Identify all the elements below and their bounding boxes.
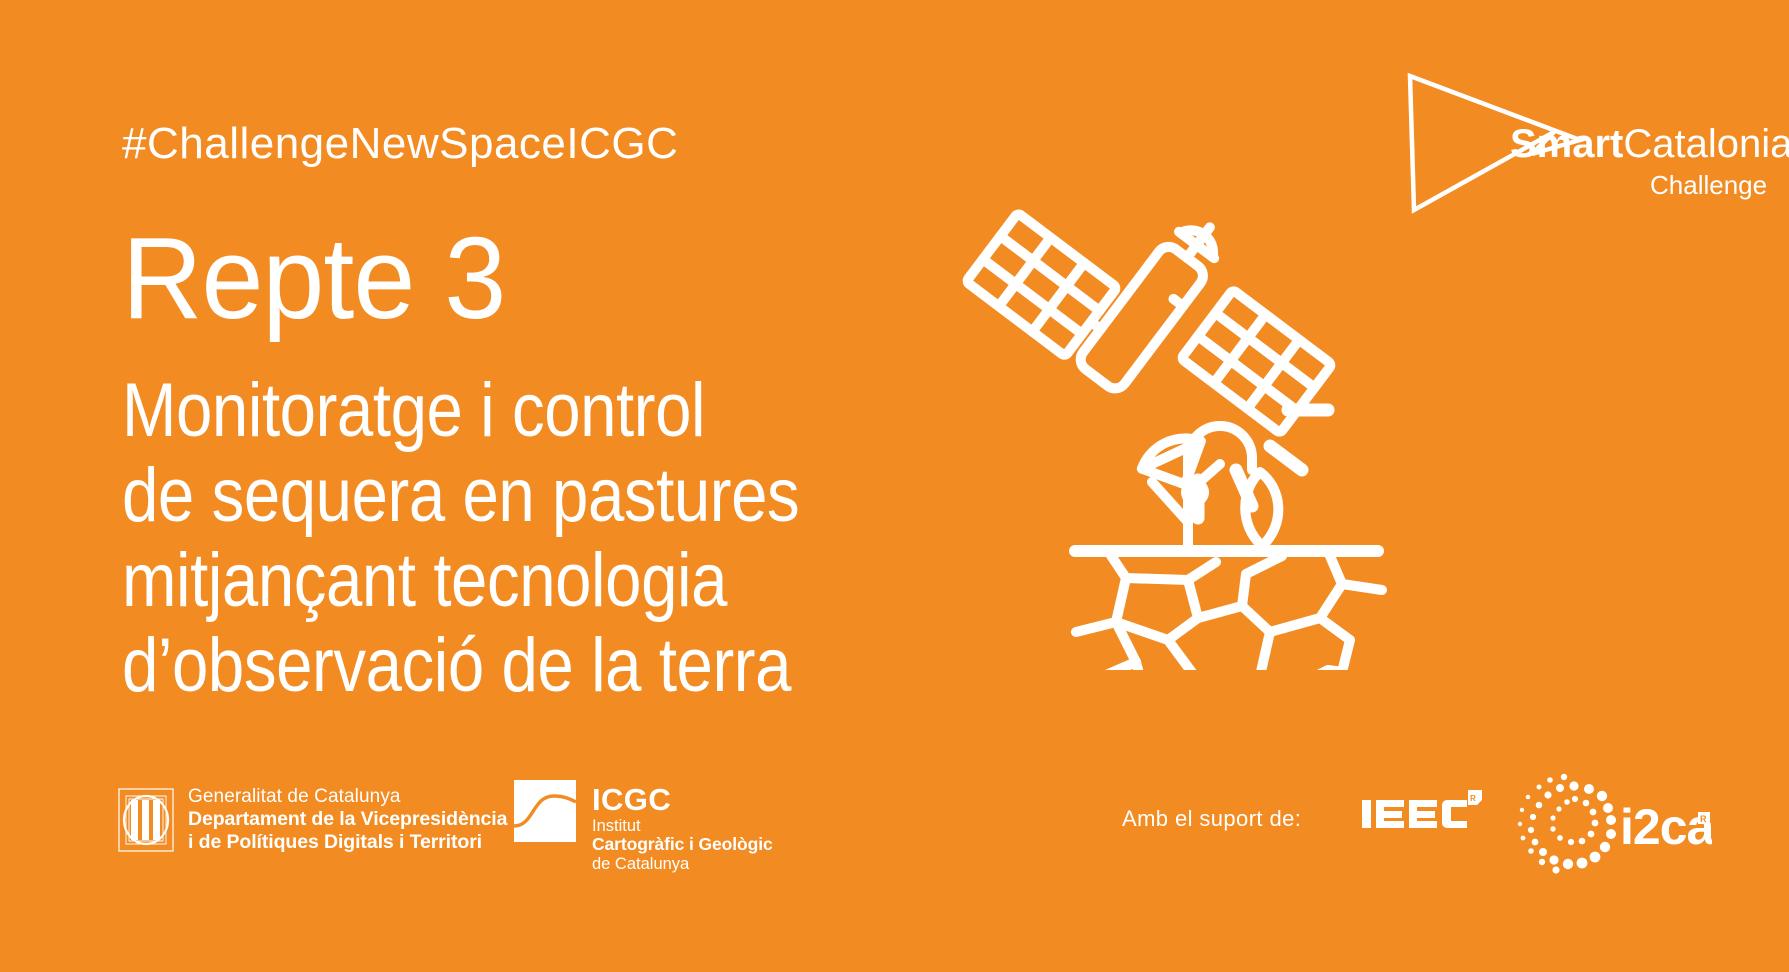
- satellite-dish-icon: [1137, 425, 1220, 503]
- illustration-svg: [930, 170, 1410, 670]
- i2cat-trademark: R: [1698, 812, 1710, 824]
- icgc-square-curve-icon: [514, 780, 576, 842]
- icgc-line-3: de Catalunya: [592, 855, 773, 873]
- campaign-hashtag: #ChallengeNewSpaceICGC: [122, 122, 678, 166]
- subtitle-line-4: d’observació de la terra: [122, 623, 799, 708]
- generalitat-line-3: i de Polítiques Digitals i Territori: [188, 831, 507, 854]
- drought-monitoring-illustration: [930, 170, 1410, 670]
- wordmark-smart: Smart: [1510, 122, 1623, 166]
- generalitat-logo: Generalitat de Catalunya Departament de …: [118, 786, 507, 854]
- generalitat-text: Generalitat de Catalunya Departament de …: [188, 786, 507, 854]
- icgc-text: ICGC Institut Cartogràfic i Geològic de …: [592, 780, 773, 873]
- icgc-logo: ICGC Institut Cartogràfic i Geològic de …: [514, 780, 773, 873]
- cracked-earth-icon: [1076, 551, 1382, 670]
- subtitle-line-1: Monitoratge i control: [122, 368, 799, 453]
- generalitat-line-2: Departament de la Vicepresidència: [188, 808, 507, 831]
- smartcatalonia-wordmark: SmartCatalonia: [1510, 124, 1789, 164]
- icgc-line-1: Institut: [592, 817, 773, 835]
- page-title: Repte 3: [122, 220, 505, 336]
- wordmark-catalonia: Catalonia: [1623, 122, 1789, 166]
- svg-text:R: R: [1700, 814, 1707, 824]
- subtitle-line-2: de sequera en pastures: [122, 453, 799, 538]
- i2cat-logo: i2cat R: [1512, 768, 1712, 876]
- support-label: Amb el suport de:: [1122, 806, 1301, 832]
- generalitat-line-1: Generalitat de Catalunya: [188, 786, 507, 808]
- satellite-icon: [966, 170, 1353, 487]
- catalonia-shield-icon: [118, 788, 174, 852]
- icgc-line-2: Cartogràfic i Geològic: [592, 835, 773, 855]
- subtitle-line-3: mitjançant tecnologia: [122, 538, 799, 623]
- icgc-acronym: ICGC: [592, 784, 773, 817]
- i2cat-dot-spiral: [1518, 774, 1616, 874]
- promo-banner: #ChallengeNewSpaceICGC Repte 3 Monitorat…: [0, 0, 1789, 972]
- ieec-logo: R: [1362, 790, 1482, 838]
- smartcatalonia-logo: SmartCatalonia Challenge: [1402, 68, 1774, 218]
- ieec-trademark: R: [1470, 794, 1476, 803]
- i2cat-wordmark: i2cat: [1620, 799, 1712, 855]
- challenge-subtitle: Monitoratge i control de sequera en past…: [122, 368, 799, 708]
- smartcatalonia-challenge-label: Challenge: [1650, 172, 1767, 198]
